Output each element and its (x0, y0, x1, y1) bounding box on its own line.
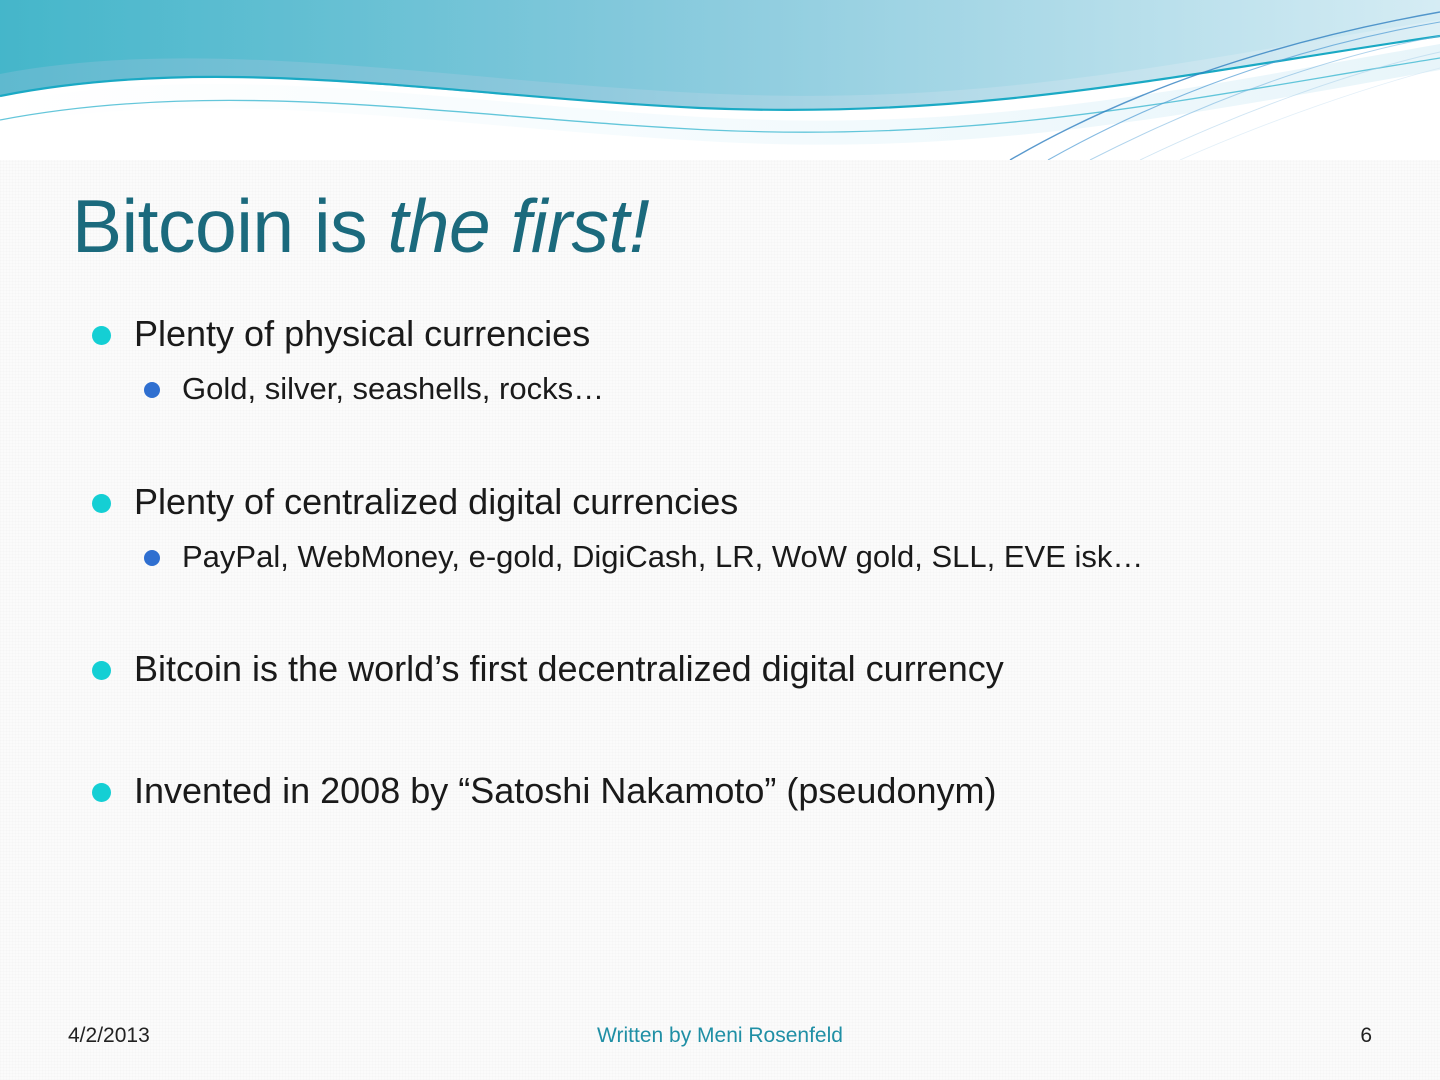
bullet-dot-icon (92, 783, 111, 802)
bullet-dot-icon (92, 661, 111, 680)
spacer (82, 408, 1382, 480)
bullet-level1: Plenty of centralized digital currencies (82, 480, 1382, 524)
footer-page-number: 6 (1360, 1024, 1372, 1048)
footer-attribution: Written by Meni Rosenfeld (0, 1024, 1440, 1048)
bullet-level2: PayPal, WebMoney, e-gold, DigiCash, LR, … (82, 538, 1382, 576)
title-emphasis: the first! (387, 184, 649, 268)
sub-bullet-text: Gold, silver, seashells, rocks… (182, 371, 604, 406)
bullet-dot-icon (92, 494, 111, 513)
bullet-level2: Gold, silver, seashells, rocks… (82, 370, 1382, 408)
spacer (82, 697, 1382, 769)
decorative-wave-banner (0, 0, 1440, 160)
slide-body: Plenty of physical currencies Gold, silv… (82, 312, 1382, 819)
sub-bullet-dot-icon (144, 550, 160, 566)
sub-bullet-text: PayPal, WebMoney, e-gold, DigiCash, LR, … (182, 539, 1143, 574)
bullet-level1: Invented in 2008 by “Satoshi Nakamoto” (… (82, 769, 1382, 813)
slide-title: Bitcoin is the first! (72, 183, 649, 269)
sub-bullet-dot-icon (144, 382, 160, 398)
spacer (82, 575, 1382, 647)
bullet-dot-icon (92, 326, 111, 345)
bullet-text: Plenty of physical currencies (134, 313, 590, 354)
bullet-text: Plenty of centralized digital currencies (134, 481, 738, 522)
title-plain: Bitcoin is (72, 184, 387, 268)
slide: Bitcoin is the first! Plenty of physical… (0, 0, 1440, 1080)
bullet-text: Invented in 2008 by “Satoshi Nakamoto” (… (134, 770, 996, 811)
bullet-level1: Plenty of physical currencies (82, 312, 1382, 356)
bullet-level1: Bitcoin is the world’s first decentraliz… (82, 647, 1382, 691)
bullet-text: Bitcoin is the world’s first decentraliz… (134, 648, 1004, 689)
